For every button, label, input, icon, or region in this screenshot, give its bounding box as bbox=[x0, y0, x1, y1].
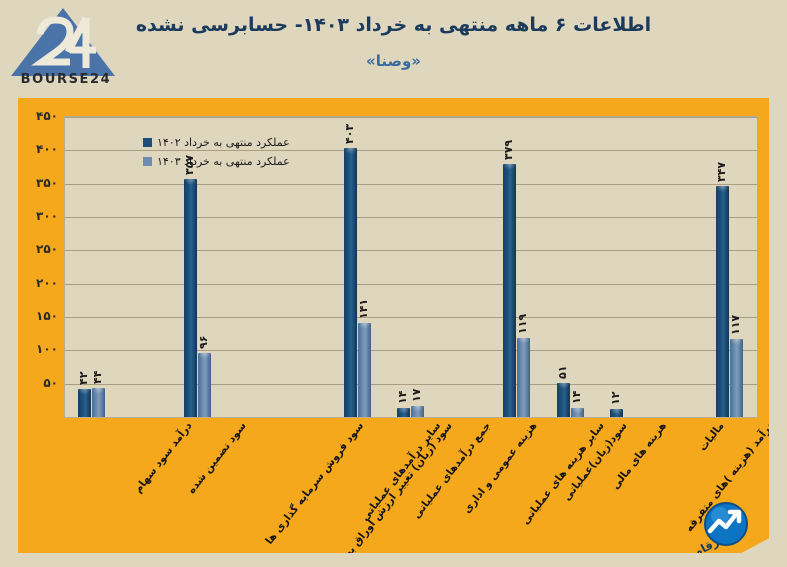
y-axis-tick-label: ۲۰۰ bbox=[36, 276, 58, 290]
bar-highlight bbox=[503, 164, 516, 170]
bar-highlight bbox=[716, 186, 729, 192]
bar-1402 bbox=[557, 383, 570, 417]
y-axis-tick-label: ۴۰۰ bbox=[36, 142, 58, 156]
bar-group: ۳۷۹۱۱۹ bbox=[491, 117, 544, 417]
bar-value-label: ۱۴ bbox=[396, 390, 409, 403]
bar-1402 bbox=[184, 179, 197, 417]
page-header: BOURSE24 اطلاعات ۶ ماهه منتهی به خرداد ۱… bbox=[0, 0, 787, 100]
bar-1403 bbox=[198, 353, 211, 417]
bar-highlight bbox=[344, 148, 357, 154]
bar-highlight bbox=[184, 179, 197, 185]
bar-highlight bbox=[92, 388, 105, 394]
bar-value-label: ۹۶ bbox=[197, 336, 210, 349]
bar-group: ۱۴۱۷ bbox=[384, 117, 437, 417]
bar-value-label: ۱۴ bbox=[570, 390, 583, 403]
x-axis-tick-label: درآمد سود سهام bbox=[132, 420, 194, 495]
bar-1402 bbox=[503, 164, 516, 417]
y-axis-labels: ۵۰۱۰۰۱۵۰۲۰۰۲۵۰۳۰۰۳۵۰۴۰۰۴۵۰ bbox=[18, 116, 62, 418]
y-axis-tick-label: ۳۰۰ bbox=[36, 209, 58, 223]
bar-value-label: ۵۱ bbox=[556, 366, 569, 379]
bar-value-label: ۳۷۹ bbox=[502, 140, 515, 160]
bar-highlight bbox=[571, 408, 584, 414]
bar-1403 bbox=[92, 388, 105, 417]
y-axis-tick-label: ۵۰ bbox=[43, 376, 58, 390]
legend-label-1402: عملکرد منتهی به خرداد ۱۴۰۲ bbox=[157, 136, 290, 149]
bar-highlight bbox=[557, 383, 570, 389]
y-axis-tick-label: ۳۵۰ bbox=[36, 176, 58, 190]
bar-highlight bbox=[198, 353, 211, 359]
bar-1403 bbox=[411, 406, 424, 417]
bar-1403 bbox=[730, 339, 743, 417]
page-subtitle: «وصنا» bbox=[0, 52, 787, 70]
bar-1402 bbox=[610, 409, 623, 417]
bar-highlight bbox=[610, 409, 623, 415]
bar-highlight bbox=[397, 408, 410, 414]
bar-group: ۳۴۷۱۱۷ bbox=[704, 117, 757, 417]
logo-wordmark: BOURSE24 bbox=[14, 72, 118, 87]
bar-value-label: ۱۲ bbox=[609, 392, 622, 405]
y-axis-tick-label: ۱۰۰ bbox=[36, 342, 58, 356]
bar-value-label: ۱۱۹ bbox=[516, 314, 529, 334]
bar-group: ۱۲ bbox=[597, 117, 650, 417]
legend-swatch-1403 bbox=[143, 157, 152, 166]
bar-value-label: ۴۰۳ bbox=[343, 124, 356, 144]
bar-group: ۴۰۳۱۴۱ bbox=[331, 117, 384, 417]
legend-item-1402: عملکرد منتهی به خرداد ۱۴۰۲ bbox=[143, 133, 290, 152]
page-title: اطلاعات ۶ ماهه منتهی به خرداد ۱۴۰۳- حساب… bbox=[0, 14, 787, 36]
chart-legend: عملکرد منتهی به خرداد ۱۴۰۲ عملکرد منتهی … bbox=[143, 133, 290, 171]
bar-value-label: ۴۲ bbox=[77, 372, 90, 385]
y-axis-tick-label: ۴۵۰ bbox=[36, 109, 58, 123]
bar-group bbox=[651, 117, 704, 417]
bar-highlight bbox=[517, 338, 530, 344]
x-axis-tick-label: سایر هزینه های عملیاتی bbox=[520, 420, 607, 527]
bar-group bbox=[438, 117, 491, 417]
legend-label-1403: عملکرد منتهی به خرداد ۱۴۰۳ bbox=[157, 155, 290, 168]
bar-value-label: ۳۴۷ bbox=[715, 162, 728, 182]
bar-1403 bbox=[358, 323, 371, 417]
bar-value-label: ۴۴ bbox=[91, 370, 104, 383]
y-axis-tick-label: ۱۵۰ bbox=[36, 309, 58, 323]
bar-1402 bbox=[344, 148, 357, 417]
x-axis-tick-label: سود تضمین شده bbox=[185, 420, 248, 496]
bar-1402 bbox=[716, 186, 729, 417]
x-axis-tick-label: مالیات bbox=[697, 420, 727, 454]
legend-swatch-1402 bbox=[143, 138, 152, 147]
bar-1403 bbox=[571, 408, 584, 417]
bar-1402 bbox=[78, 389, 91, 417]
chart-arrow-icon bbox=[703, 501, 749, 547]
legend-item-1403: عملکرد منتهی به خرداد ۱۴۰۳ bbox=[143, 152, 290, 171]
bar-group: ۵۱۱۴ bbox=[544, 117, 597, 417]
chart-panel: ۵۰۱۰۰۱۵۰۲۰۰۲۵۰۳۰۰۳۵۰۴۰۰۴۵۰ ۴۲۴۴۳۵۷۹۶۴۰۳۱… bbox=[18, 98, 769, 553]
plot-area: ۴۲۴۴۳۵۷۹۶۴۰۳۱۴۱۱۴۱۷۳۷۹۱۱۹۵۱۱۴۱۲۳۴۷۱۱۷ عم… bbox=[64, 116, 758, 418]
bar-highlight bbox=[730, 339, 743, 345]
bar-highlight bbox=[411, 406, 424, 412]
y-axis-tick-label: ۲۵۰ bbox=[36, 242, 58, 256]
x-axis-labels: درآمد سود سهامسود تضمین شدهسود فروش سرما… bbox=[64, 420, 764, 540]
bar-value-label: ۱۴۱ bbox=[357, 299, 370, 319]
x-axis-tick-label: سود فروش سرمایه گذاری ها bbox=[263, 420, 366, 547]
bar-highlight bbox=[78, 389, 91, 395]
bar-value-label: ۱۷ bbox=[410, 388, 423, 401]
bar-highlight bbox=[358, 323, 371, 329]
bar-group: ۴۲۴۴ bbox=[65, 117, 118, 417]
bar-1402 bbox=[397, 408, 410, 417]
bar-1403 bbox=[517, 338, 530, 417]
bar-value-label: ۱۱۷ bbox=[729, 315, 742, 335]
